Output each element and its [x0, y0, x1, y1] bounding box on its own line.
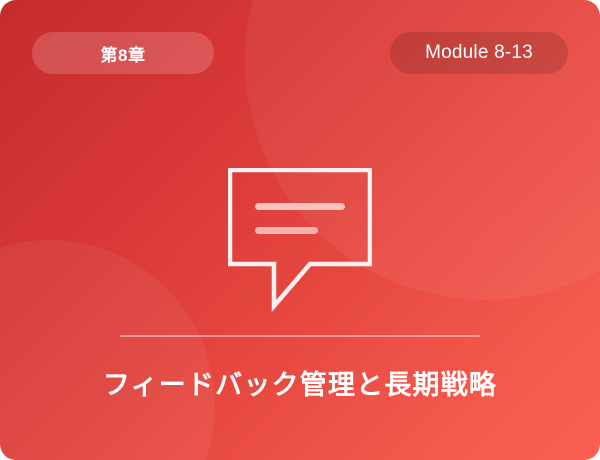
bubble-line-1: [255, 203, 345, 210]
card-header: 第8章 Module 8-13: [32, 32, 568, 74]
module-badge-label: Module 8-13: [425, 42, 533, 64]
chapter-badge[interactable]: 第8章: [32, 32, 214, 74]
chapter-card[interactable]: 第8章 Module 8-13 フィードバック管理と長期戦略: [0, 0, 600, 460]
module-badge[interactable]: Module 8-13: [390, 32, 568, 74]
title-divider: [120, 335, 480, 337]
bubble-line-2: [255, 227, 318, 234]
card-title: フィードバック管理と長期戦略: [30, 368, 570, 403]
chapter-badge-label: 第8章: [101, 41, 146, 66]
speech-bubble-icon-container: [0, 168, 600, 314]
speech-bubble-icon: [228, 168, 372, 314]
